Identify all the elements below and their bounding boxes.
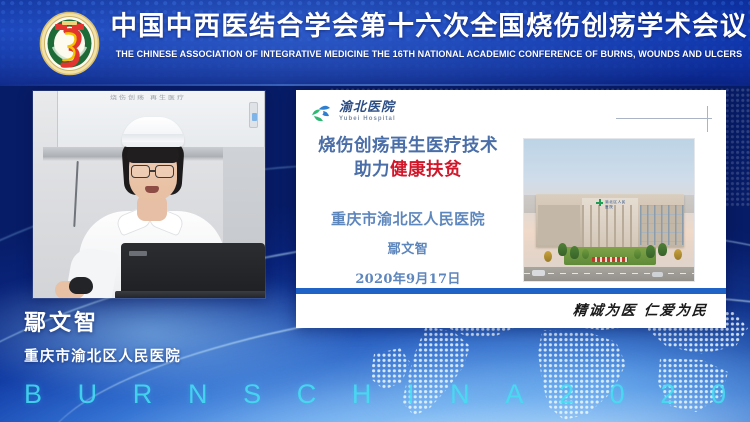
speaker-name: 鄢文智 bbox=[24, 305, 324, 337]
laptop-logo bbox=[129, 251, 147, 256]
wordmark-letter: 0 bbox=[610, 379, 625, 410]
header-title-cn: 中国中西医结合学会第十六次全国烧伤创疡学术会议 bbox=[110, 12, 747, 41]
wordmark-letter: C bbox=[297, 379, 317, 410]
wordmark-letter: N bbox=[188, 379, 208, 410]
wordmark-letter: 0 bbox=[711, 379, 726, 410]
slide-date: 2020年9月17日 bbox=[302, 268, 514, 287]
photo-road-marking bbox=[524, 273, 694, 274]
photo-windows-right bbox=[640, 205, 684, 245]
speaker-caption: 鄢文智 重庆市渝北区人民医院 bbox=[24, 305, 324, 366]
glasses-lens-left bbox=[131, 165, 150, 178]
wordmark-letter: 2 bbox=[660, 379, 675, 410]
photo-tree bbox=[674, 249, 682, 260]
photo-tree bbox=[570, 246, 579, 259]
header-divider bbox=[0, 84, 750, 86]
speaker-mouth bbox=[145, 186, 159, 193]
photo-tree bbox=[658, 243, 667, 256]
photo-flowerbed bbox=[592, 257, 628, 262]
glasses-lens-right bbox=[155, 165, 174, 178]
photo-vehicle bbox=[652, 272, 663, 277]
wordmark-letter: A bbox=[505, 379, 523, 410]
slide-title-highlight: 健康扶贫 bbox=[390, 160, 462, 180]
glasses-bridge bbox=[150, 170, 155, 172]
photo-sign-text: 渝北区人民医院 bbox=[605, 200, 630, 210]
slide-title-line2-plain: 助力 bbox=[354, 160, 390, 180]
speaker-video-feed[interactable]: 烧伤创疡 再生医疗 bbox=[33, 91, 265, 298]
wordmark-letter: 2 bbox=[559, 379, 574, 410]
slide-hospital-logo: 渝北医院 Yubei Hospital bbox=[310, 101, 396, 122]
photo-tree bbox=[634, 249, 641, 259]
photo-tree bbox=[646, 245, 655, 258]
slide-title: 烧伤创疡再生医疗技术 助力健康扶贫 bbox=[302, 134, 514, 182]
photo-windows-left bbox=[538, 205, 580, 245]
slide-title-line2: 助力健康扶贫 bbox=[302, 158, 514, 182]
slide-logo-en: Yubei Hospital bbox=[339, 116, 396, 122]
slide-logo-cn: 渝北医院 bbox=[339, 101, 396, 114]
laptop-base bbox=[115, 291, 265, 298]
slide-accent-bar bbox=[296, 288, 726, 294]
slide-calligraphy-motto: 精诚为医 仁爱为民 bbox=[572, 300, 709, 320]
wordmark-letter: U bbox=[78, 379, 98, 410]
wordmark-letter: N bbox=[450, 379, 470, 410]
photo-tree bbox=[582, 249, 589, 259]
wordmark-letter: R bbox=[133, 379, 153, 410]
slide-subtitle-block: 重庆市渝北区人民医院 鄢文智 2020年9月17日 bbox=[302, 208, 514, 287]
speaker-organization: 重庆市渝北区人民医院 bbox=[24, 345, 324, 366]
slide-presenter: 鄢文智 bbox=[302, 238, 514, 257]
conference-broadcast-screen: B U R N S C H I N A 2 0 2 0 bbox=[0, 0, 750, 422]
wordmark-letter: I bbox=[407, 379, 415, 410]
caim-emblem-icon bbox=[33, 11, 106, 76]
nurse-cap-fold bbox=[122, 134, 184, 142]
video-whiteboard-text: 烧伤创疡 再生医疗 bbox=[110, 94, 186, 102]
conference-header-banner: 中国中西医结合学会第十六次全国烧伤创疡学术会议 THE CHINESE ASSO… bbox=[0, 0, 750, 86]
wordmark-letter: B bbox=[24, 379, 42, 410]
photo-hospital-sign: 渝北区人民医院 bbox=[596, 199, 630, 206]
green-medical-cross-icon bbox=[596, 199, 603, 206]
photo-vehicle bbox=[532, 270, 545, 276]
slide-title-line1: 烧伤创疡再生医疗技术 bbox=[302, 134, 514, 158]
presentation-slide[interactable]: 渝北医院 Yubei Hospital 烧伤创疡再生医疗技术 助力健康扶贫 重庆… bbox=[296, 90, 726, 328]
slide-logo-text: 渝北医院 Yubei Hospital bbox=[339, 101, 396, 122]
slide-organization: 重庆市渝北区人民医院 bbox=[302, 208, 514, 229]
event-wordmark: B U R N S C H I N A 2 0 2 0 bbox=[0, 374, 750, 414]
wordmark-letter: S bbox=[243, 379, 261, 410]
hospital-building-photo: 渝北区人民医院 bbox=[523, 138, 695, 282]
photo-tree bbox=[558, 243, 567, 256]
photo-road bbox=[524, 267, 694, 282]
video-board-control bbox=[249, 102, 258, 128]
wordmark-letter: H bbox=[352, 379, 372, 410]
computer-mouse bbox=[69, 277, 93, 294]
slide-decor-tick bbox=[707, 106, 708, 132]
photo-tree bbox=[544, 251, 552, 262]
header-title-en: THE CHINESE ASSOCIATION OF INTEGRATIVE M… bbox=[116, 49, 743, 59]
slide-decor-rule bbox=[616, 118, 712, 119]
yubei-hospital-mark-icon bbox=[310, 102, 334, 122]
header-text-block: 中国中西医结合学会第十六次全国烧伤创疡学术会议 THE CHINESE ASSO… bbox=[120, 12, 738, 59]
photo-columns bbox=[582, 205, 638, 247]
